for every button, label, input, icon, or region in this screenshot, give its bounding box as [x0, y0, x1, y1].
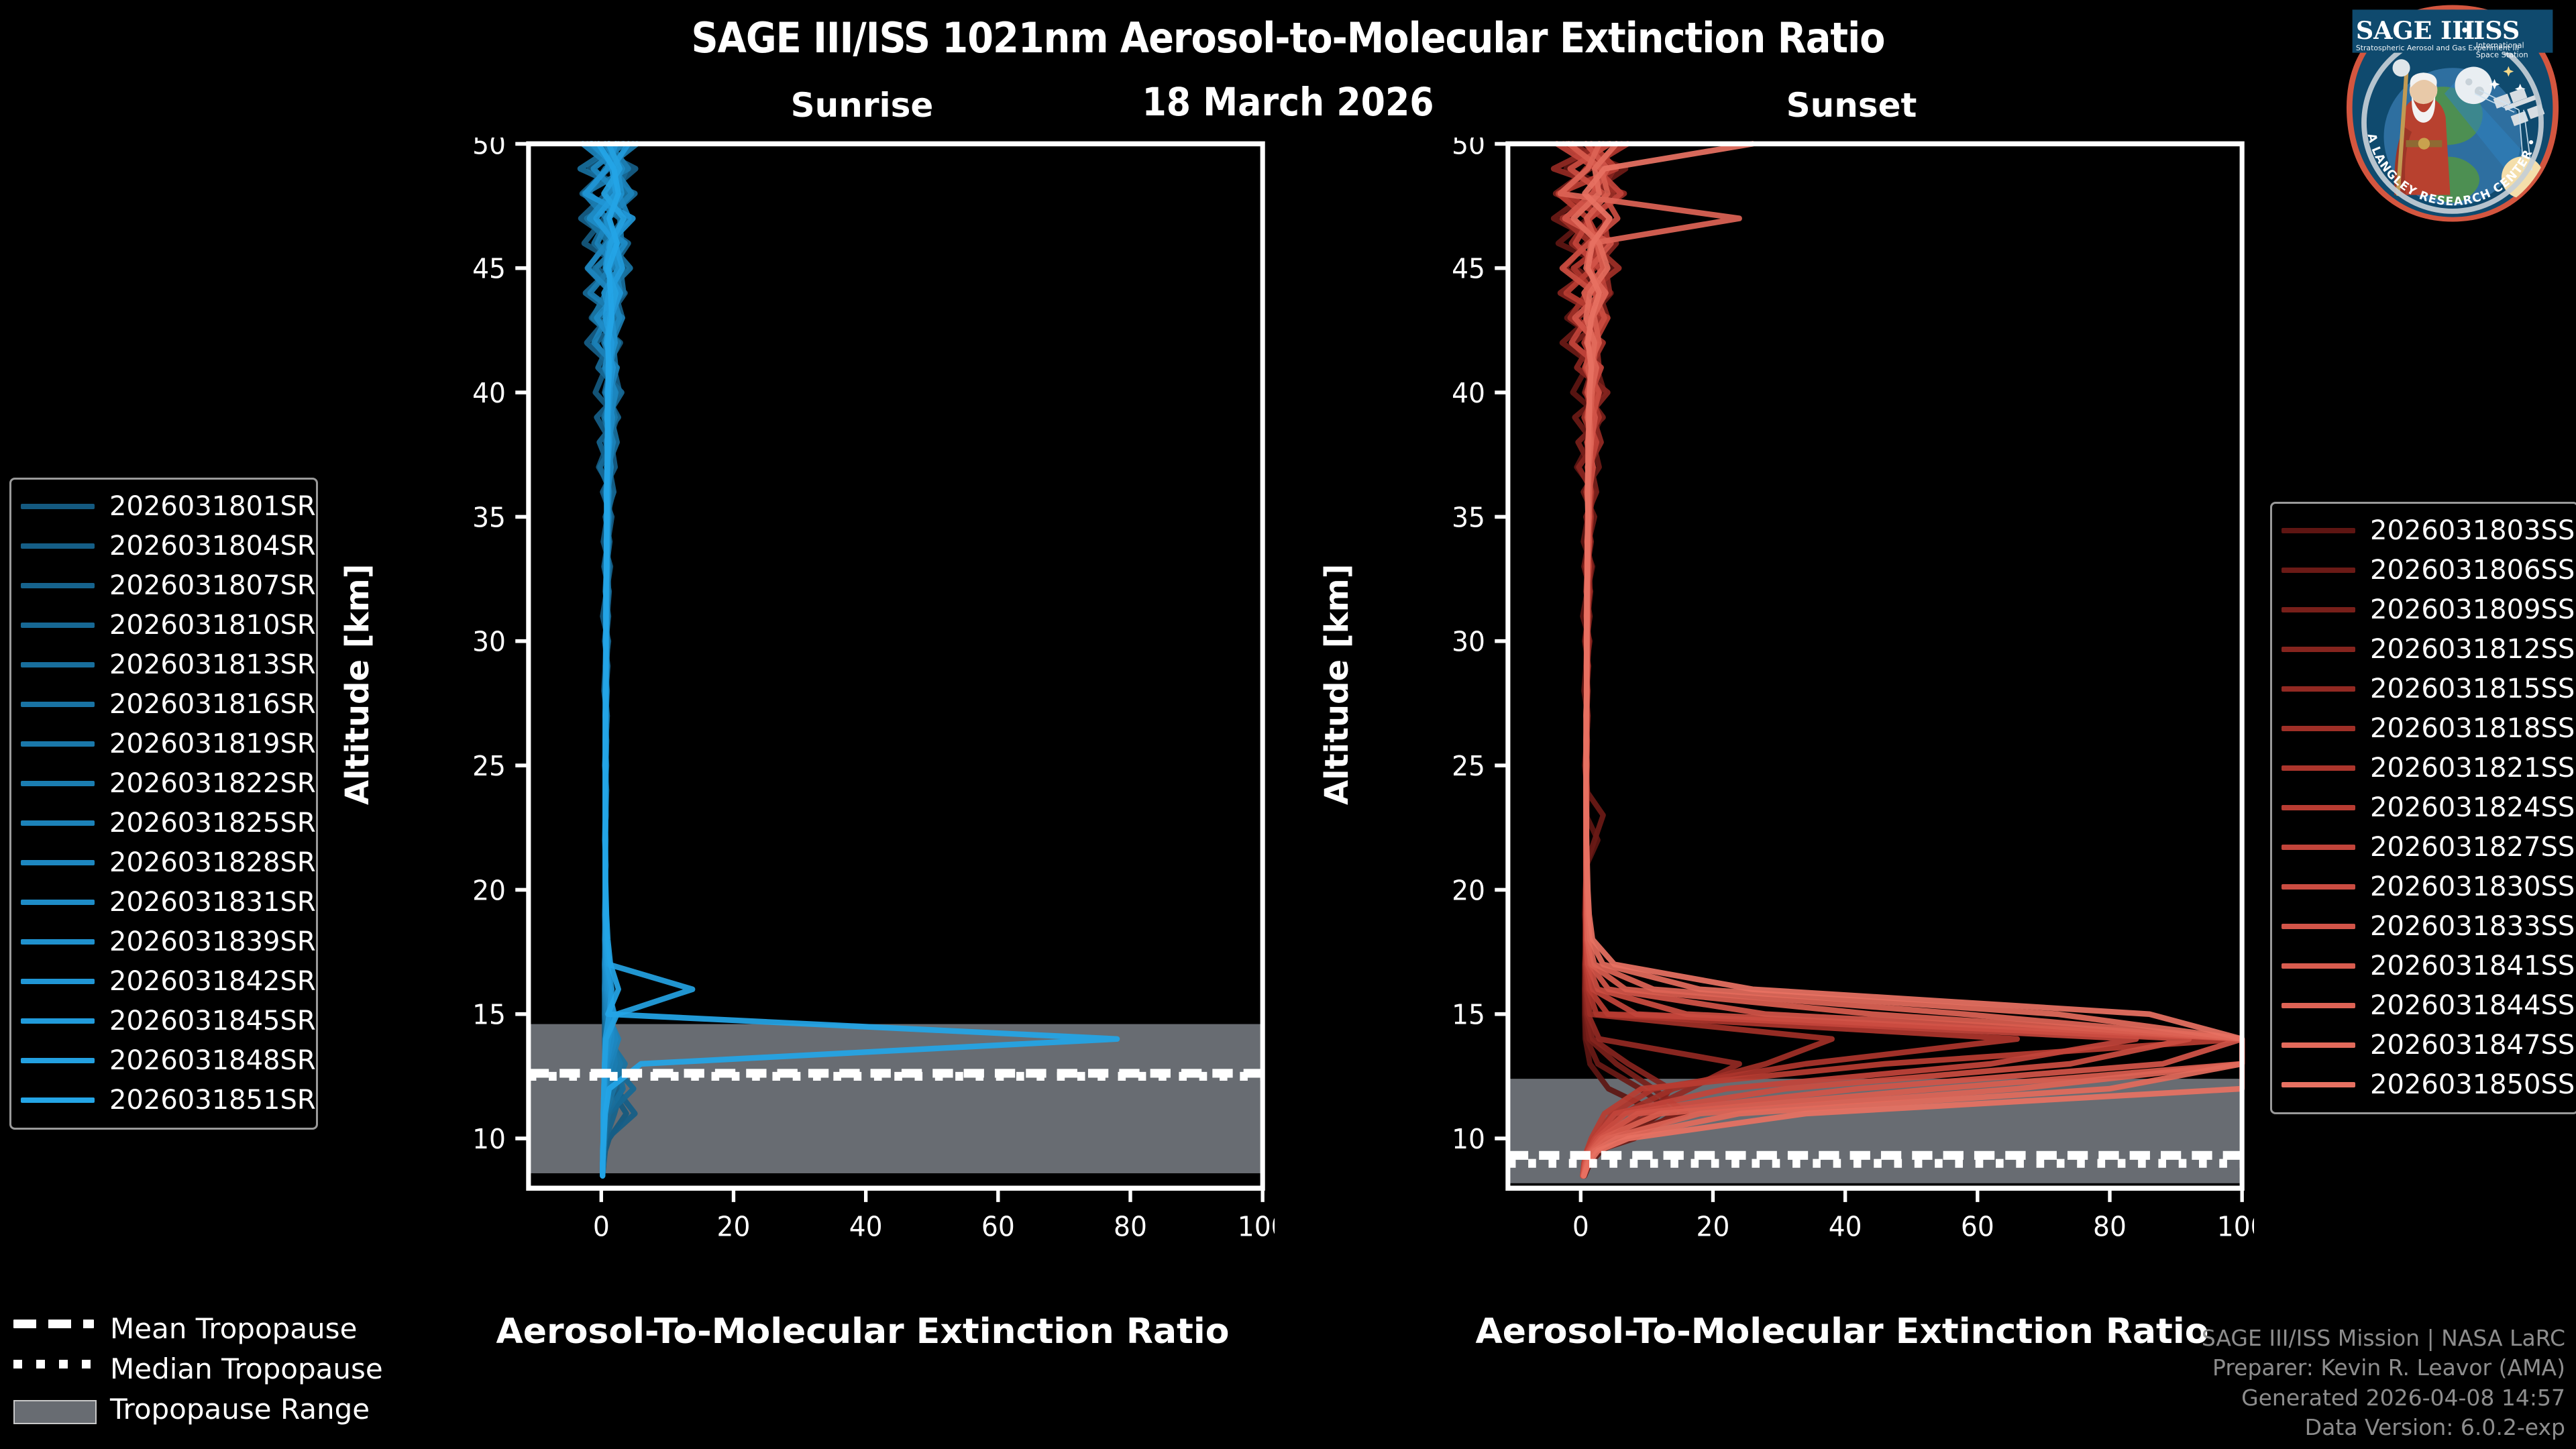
logo-subtitle-right-2: Space Station [2476, 51, 2528, 60]
legend-item[interactable]: 2026031822SR [21, 763, 305, 803]
legend-color-swatch [2282, 568, 2355, 573]
y-axis-tick-label: 25 [472, 751, 506, 782]
legend-item-label: 2026031821SS [2370, 753, 2575, 784]
legend-item-label: 2026031833SS [2370, 911, 2575, 942]
legend-color-swatch [21, 702, 95, 707]
legend-item-label: 2026031815SS [2370, 674, 2575, 704]
sunset-plot: 101520253035404550020406080100 [1430, 138, 2254, 1251]
legend-color-swatch [2282, 647, 2355, 652]
y-axis-tick-label: 50 [1452, 138, 1485, 161]
legend-item-label: 2026031851SR [109, 1085, 316, 1116]
logo-title-main: SAGE III [2356, 16, 2475, 45]
legend-item-label: 2026031830SS [2370, 871, 2575, 902]
legend-color-swatch [21, 623, 95, 628]
sunset-panel-heading: Sunset [1650, 86, 2053, 125]
mean-tropopause-swatch [13, 1320, 94, 1337]
y-axis-tick-label: 50 [472, 138, 506, 161]
tropopause-legend-label: Tropopause Range [110, 1393, 370, 1426]
legend-item[interactable]: 2026031831SR [21, 882, 305, 922]
legend-color-swatch [2282, 805, 2355, 810]
legend-item-label: 2026031824SS [2370, 792, 2575, 823]
legend-item-label: 2026031813SR [109, 649, 316, 680]
legend-item-label: 2026031850SS [2370, 1069, 2575, 1100]
legend-item-label: 2026031845SR [109, 1006, 316, 1036]
legend-color-swatch [2282, 924, 2355, 929]
y-axis-tick-label: 40 [1452, 378, 1485, 409]
legend-item-label: 2026031812SS [2370, 634, 2575, 665]
legend-color-swatch [21, 504, 95, 509]
x-axis-tick-label: 20 [717, 1212, 751, 1243]
legend-item[interactable]: 2026031848SR [21, 1040, 305, 1080]
legend-color-swatch [2282, 726, 2355, 731]
legend-color-swatch [21, 979, 95, 984]
legend-item-label: 2026031804SR [109, 531, 316, 561]
footer-line: Data Version: 6.0.2-exp [2202, 1413, 2565, 1442]
y-axis-tick-label: 45 [472, 254, 506, 285]
legend-color-swatch [21, 543, 95, 549]
legend-color-swatch [21, 781, 95, 786]
legend-item-label: 2026031848SR [109, 1045, 316, 1076]
sunset-legend: 2026031803SS2026031806SS2026031809SS2026… [2270, 502, 2576, 1114]
legend-item[interactable]: 2026031809SS [2282, 590, 2566, 629]
tropopause-legend-item[interactable]: Mean Tropopause [13, 1308, 429, 1348]
legend-color-swatch [21, 1058, 95, 1063]
y-axis-tick-label: 30 [1452, 627, 1485, 658]
legend-color-swatch [21, 820, 95, 826]
profile-line [598, 144, 1117, 1175]
tropopause-legend-item[interactable]: Median Tropopause [13, 1348, 429, 1389]
sunrise-legend: 2026031801SR2026031804SR2026031807SR2026… [9, 478, 318, 1130]
legend-item[interactable]: 2026031810SR [21, 605, 305, 645]
y-axis-tick-label: 40 [472, 378, 506, 409]
y-axis-tick-label: 35 [472, 502, 506, 533]
sunrise-x-axis-label: Aerosol-To-Molecular Extinction Ratio [427, 1311, 1299, 1352]
legend-item[interactable]: 2026031850SS [2282, 1065, 2566, 1104]
legend-item[interactable]: 2026031807SR [21, 566, 305, 605]
legend-color-swatch [21, 900, 95, 905]
legend-item-label: 2026031806SS [2370, 555, 2575, 586]
sunrise-y-axis-label: Altitude [km] [339, 563, 376, 805]
legend-color-swatch [21, 939, 95, 945]
legend-item-label: 2026031816SR [109, 689, 316, 720]
legend-item-label: 2026031807SR [109, 570, 316, 601]
x-axis-tick-label: 40 [849, 1212, 883, 1243]
legend-item[interactable]: 2026031825SR [21, 803, 305, 843]
x-axis-tick-label: 0 [593, 1212, 610, 1243]
legend-color-swatch [2282, 1082, 2355, 1087]
legend-item[interactable]: 2026031803SS [2282, 511, 2566, 550]
x-axis-tick-label: 20 [1697, 1212, 1730, 1243]
sunset-y-axis-label: Altitude [km] [1318, 563, 1356, 805]
page-title: SAGE III/ISS 1021nm Aerosol-to-Molecular… [0, 13, 2576, 62]
y-axis-tick-label: 35 [1452, 502, 1485, 533]
legend-item[interactable]: 2026031827SS [2282, 827, 2566, 867]
legend-color-swatch [2282, 1003, 2355, 1008]
legend-color-swatch [2282, 884, 2355, 890]
legend-color-swatch [2282, 963, 2355, 969]
y-axis-tick-label: 20 [472, 875, 506, 907]
sunset-x-axis-label: Aerosol-To-Molecular Extinction Ratio [1406, 1311, 2278, 1352]
y-axis-tick-label: 15 [472, 1000, 506, 1031]
x-axis-tick-label: 80 [2093, 1212, 2127, 1243]
footer-line: Preparer: Kevin R. Leavor (AMA) [2202, 1353, 2565, 1383]
legend-color-swatch [21, 741, 95, 747]
x-axis-tick-label: 0 [1572, 1212, 1589, 1243]
legend-item[interactable]: 2026031828SR [21, 843, 305, 882]
x-axis-tick-label: 60 [1961, 1212, 1994, 1243]
y-axis-tick-label: 25 [1452, 751, 1485, 782]
mission-patch-svg: SAGE III•ISSStratospheric Aerosol and Ga… [2333, 3, 2572, 224]
legend-color-swatch [2282, 686, 2355, 692]
legend-item[interactable]: 2026031830SS [2282, 867, 2566, 906]
legend-color-swatch [21, 1097, 95, 1103]
legend-item[interactable]: 2026031816SR [21, 684, 305, 724]
y-axis-tick-label: 15 [1452, 1000, 1485, 1031]
legend-color-swatch [2282, 607, 2355, 612]
sunrise-plot: 101520253035404550020406080100 [451, 138, 1275, 1251]
y-axis-tick-label: 20 [1452, 875, 1485, 907]
footer-line: SAGE III/ISS Mission | NASA LaRC [2202, 1324, 2565, 1353]
legend-color-swatch [2282, 528, 2355, 533]
legend-color-swatch [2282, 1042, 2355, 1048]
legend-item-label: 2026031825SR [109, 808, 316, 839]
legend-item[interactable]: 2026031839SR [21, 922, 305, 961]
legend-item[interactable]: 2026031819SR [21, 724, 305, 763]
legend-item[interactable]: 2026031824SS [2282, 788, 2566, 827]
logo-title-sub: ISS [2473, 16, 2520, 45]
legend-item-label: 2026031841SS [2370, 951, 2575, 981]
legend-color-swatch [2282, 845, 2355, 850]
legend-item-label: 2026031847SS [2370, 1030, 2575, 1061]
legend-item[interactable]: 2026031841SS [2282, 946, 2566, 985]
tropopause-range-swatch [13, 1400, 94, 1417]
legend-item[interactable]: 2026031851SR [21, 1080, 305, 1120]
x-axis-tick-label: 100 [1238, 1212, 1275, 1243]
legend-color-swatch [2282, 765, 2355, 771]
legend-item-label: 2026031839SR [109, 926, 316, 957]
y-axis-tick-label: 10 [472, 1124, 506, 1155]
legend-item-label: 2026031819SR [109, 729, 316, 759]
legend-item-label: 2026031809SS [2370, 594, 2575, 625]
legend-color-swatch [21, 662, 95, 667]
logo-title-dot: • [2459, 21, 2469, 41]
legend-item[interactable]: 2026031842SR [21, 961, 305, 1001]
legend-item[interactable]: 2026031821SS [2282, 748, 2566, 788]
legend-item-label: 2026031844SS [2370, 990, 2575, 1021]
y-axis-tick-label: 45 [1452, 254, 1485, 285]
legend-color-swatch [21, 583, 95, 588]
tropopause-legend-label: Mean Tropopause [110, 1312, 357, 1345]
legend-item[interactable]: 2026031813SR [21, 645, 305, 684]
legend-item[interactable]: 2026031845SR [21, 1001, 305, 1040]
legend-item-label: 2026031818SS [2370, 713, 2575, 744]
footer-line: Generated 2026-04-08 14:57 [2202, 1383, 2565, 1413]
legend-item[interactable]: 2026031844SS [2282, 985, 2566, 1025]
x-axis-tick-label: 40 [1829, 1212, 1862, 1243]
page-subtitle: 18 March 2026 [0, 79, 2576, 125]
legend-item[interactable]: 2026031833SS [2282, 906, 2566, 946]
y-axis-tick-label: 30 [472, 627, 506, 658]
x-axis-tick-label: 100 [2217, 1212, 2254, 1243]
sage-iii-iss-mission-patch-logo: SAGE III•ISSStratospheric Aerosol and Ga… [2333, 3, 2572, 224]
footer-credits: SAGE III/ISS Mission | NASA LaRCPreparer… [2202, 1324, 2565, 1442]
legend-item-label: 2026031803SS [2370, 515, 2575, 546]
legend-item[interactable]: 2026031804SR [21, 526, 305, 566]
legend-item-label: 2026031842SR [109, 966, 316, 997]
legend-item-label: 2026031831SR [109, 887, 316, 918]
legend-item[interactable]: 2026031801SR [21, 486, 305, 526]
legend-item-label: 2026031822SR [109, 768, 316, 799]
median-tropopause-swatch [13, 1360, 94, 1377]
tropopause-legend-label: Median Tropopause [110, 1352, 383, 1385]
x-axis-tick-label: 80 [1114, 1212, 1147, 1243]
y-axis-tick-label: 10 [1452, 1124, 1485, 1155]
legend-item[interactable]: 2026031847SS [2282, 1025, 2566, 1065]
legend-item-label: 2026031827SS [2370, 832, 2575, 863]
legend-color-swatch [21, 860, 95, 865]
legend-item-label: 2026031810SR [109, 610, 316, 641]
tropopause-range-band [529, 1024, 1263, 1173]
logo-subtitle-right-1: International [2476, 42, 2524, 50]
profile-line [602, 144, 692, 1175]
tropopause-legend-item[interactable]: Tropopause Range [13, 1389, 429, 1429]
legend-item-label: 2026031828SR [109, 847, 316, 878]
legend-item[interactable]: 2026031812SS [2282, 629, 2566, 669]
legend-item[interactable]: 2026031815SS [2282, 669, 2566, 708]
x-axis-tick-label: 60 [981, 1212, 1015, 1243]
legend-item-label: 2026031801SR [109, 491, 316, 522]
legend-color-swatch [21, 1018, 95, 1024]
legend-item[interactable]: 2026031818SS [2282, 708, 2566, 748]
tropopause-legend: Mean TropopauseMedian TropopauseTropopau… [13, 1308, 429, 1429]
legend-item[interactable]: 2026031806SS [2282, 550, 2566, 590]
sunrise-panel-heading: Sunrise [661, 86, 1063, 125]
